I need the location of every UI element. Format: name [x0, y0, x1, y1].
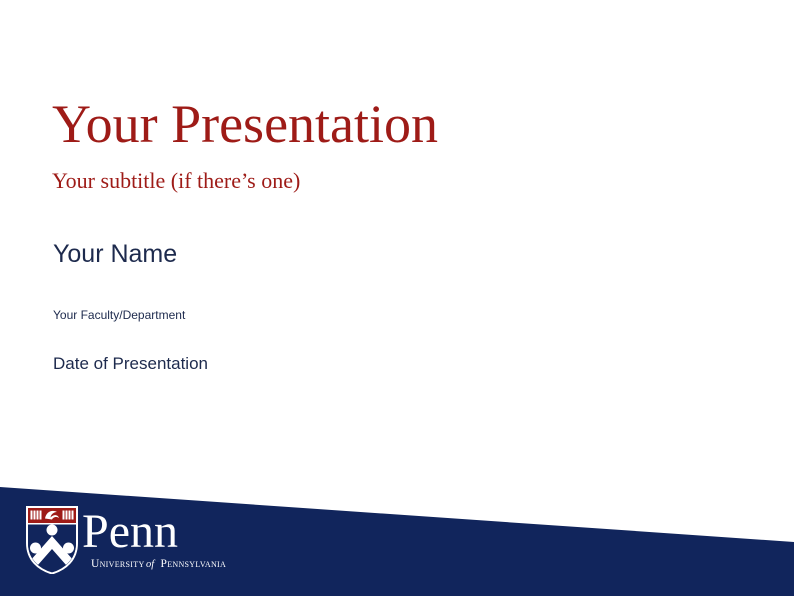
penn-shield-icon — [26, 506, 78, 574]
penn-wordmark-text: Penn — [82, 506, 178, 558]
title-block: Your Presentation Your subtitle (if ther… — [52, 96, 752, 193]
author-name: Your Name — [53, 241, 673, 269]
penn-tagline-pennsylvania: Pennsylvania — [161, 558, 227, 570]
penn-tagline-university: University — [91, 558, 145, 570]
author-block: Your Name Your Faculty/Department Date o… — [53, 241, 673, 373]
penn-logo: Penn University of Pennsylvania — [26, 506, 236, 582]
page-title: Your Presentation — [52, 96, 752, 153]
presentation-date: Date of Presentation — [53, 322, 673, 374]
penn-tagline: University of Pennsylvania — [91, 558, 226, 570]
penn-wordmark: Penn University of Pennsylvania — [82, 506, 237, 576]
penn-tagline-of: of — [146, 559, 156, 570]
page-subtitle: Your subtitle (if there’s one) — [52, 153, 752, 193]
presentation-title-slide: Your Presentation Your subtitle (if ther… — [0, 0, 794, 596]
author-department: Your Faculty/Department — [53, 269, 673, 322]
